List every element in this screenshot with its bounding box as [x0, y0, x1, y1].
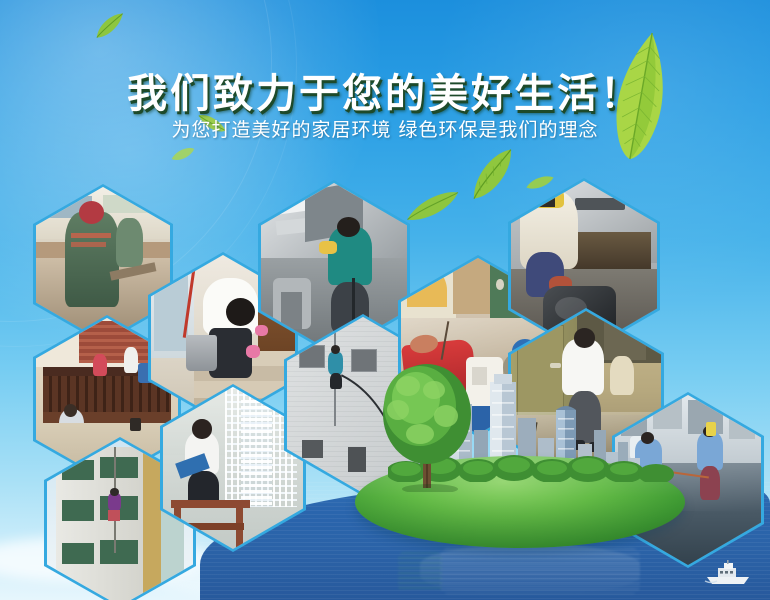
leaf-small-top-left-icon — [90, 10, 129, 41]
island-tree — [368, 362, 488, 492]
boat-icon — [704, 560, 752, 586]
leaf-medium-center-icon — [459, 145, 527, 205]
page-subtitle: 为您打造美好的家居环境 绿色环保是我们的理念 — [0, 115, 770, 142]
promo-banner: 我们致力于您的美好生活！ 为您打造美好的家居环境 绿色环保是我们的理念 — [0, 0, 770, 600]
leaf-small-center-icon — [402, 188, 464, 225]
leaf-small-lower-left-icon — [169, 146, 197, 162]
leaf-small-top-right-icon — [524, 174, 555, 191]
page-title: 我们致力于您的美好生活！ — [0, 61, 770, 119]
